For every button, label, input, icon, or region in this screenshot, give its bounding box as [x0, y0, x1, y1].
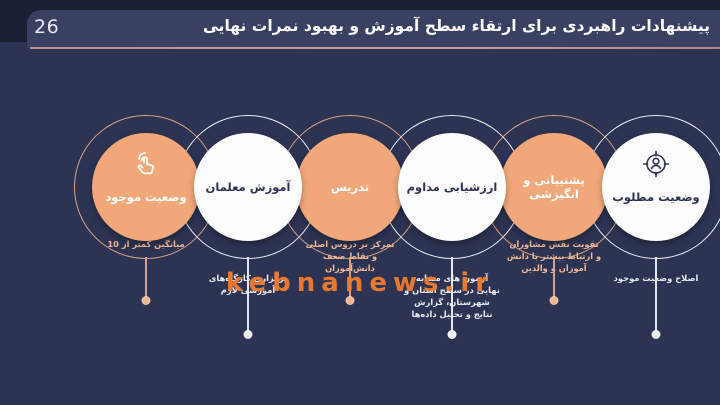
connector-dot-support-motivation — [550, 296, 559, 305]
node-label-continuous-assessment: ارزشیابی مداوم — [401, 180, 504, 194]
page-number: 26 — [34, 16, 59, 38]
connector-desired-state — [655, 257, 657, 333]
slide-title: پیشنهادات راهبردی برای ارتقاء سطح آموزش … — [203, 17, 710, 35]
connector-dot-teacher-training — [244, 330, 253, 339]
connector-dot-current-state — [142, 296, 151, 305]
process-node-continuous-assessment[interactable]: ارزشیابی مداوم — [398, 133, 506, 241]
connector-dot-desired-state — [652, 330, 661, 339]
connector-continuous-assessment — [451, 257, 453, 333]
tap-click-icon — [131, 149, 161, 179]
process-diagram: وضعیت موجودآموزش معلمانتدریسارزشیابی مدا… — [0, 52, 720, 405]
connector-current-state — [145, 257, 147, 299]
process-node-desired-state[interactable]: وضعیت مطلوب — [602, 133, 710, 241]
connector-dot-continuous-assessment — [448, 330, 457, 339]
node-label-support-motivation: پشتیبانی و انگیزشی — [500, 173, 608, 202]
connector-dot-teaching — [346, 296, 355, 305]
process-node-support-motivation[interactable]: پشتیبانی و انگیزشی — [500, 133, 608, 241]
process-node-teacher-training[interactable]: آموزش معلمان — [194, 133, 302, 241]
slide-canvas: 26 پیشنهادات راهبردی برای ارتقاء سطح آمو… — [0, 0, 720, 405]
node-label-current-state: وضعیت موجود — [99, 190, 192, 204]
header-divider — [30, 47, 720, 49]
process-node-current-state[interactable]: وضعیت موجود — [92, 133, 200, 241]
target-person-icon — [641, 149, 671, 179]
node-label-teaching: تدریس — [325, 180, 375, 194]
process-node-teaching[interactable]: تدریس — [296, 133, 404, 241]
node-label-teacher-training: آموزش معلمان — [200, 180, 297, 194]
connector-teacher-training — [247, 257, 249, 333]
connector-teaching — [349, 257, 351, 299]
connector-support-motivation — [553, 257, 555, 299]
node-label-desired-state: وضعیت مطلوب — [606, 190, 705, 204]
